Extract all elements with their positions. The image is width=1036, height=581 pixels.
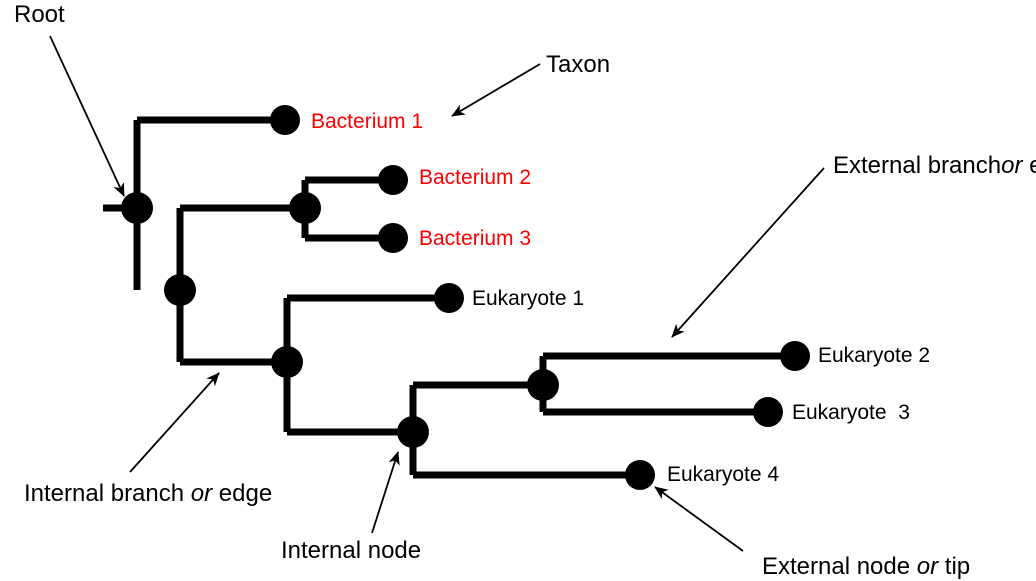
tip-node-eukaryote-4[interactable] xyxy=(625,460,655,490)
annotation-label-internal-node: Internal node xyxy=(281,538,421,565)
internal-node-bacteria-23[interactable] xyxy=(289,192,321,224)
annotation-label-external-branch: External branchor edge xyxy=(833,153,1033,180)
taxon-label-bacterium-2: Bacterium 2 xyxy=(419,166,531,190)
taxon-label-eukaryote-4: Eukaryote 4 xyxy=(667,463,779,487)
tip-node-bacterium-3[interactable] xyxy=(378,223,408,253)
tip-node-eukaryote-3[interactable] xyxy=(753,397,783,427)
phylogenetic-tree-figure: Bacterium 1 Bacterium 2 Bacterium 3 Euka… xyxy=(0,0,1036,581)
taxon-label-bacterium-3: Bacterium 3 xyxy=(419,227,531,251)
internal-node-b[interactable] xyxy=(164,274,196,306)
tip-node-bacterium-2[interactable] xyxy=(378,165,408,195)
tip-node-eukaryote-2[interactable] xyxy=(780,341,810,371)
taxon-label-eukaryote-3: Eukaryote 3 xyxy=(792,401,910,425)
annotation-label-taxon: Taxon xyxy=(546,52,610,79)
annotation-label-external-node: External node or tip xyxy=(762,554,970,581)
internal-node-root[interactable] xyxy=(121,192,153,224)
tip-node-eukaryote-1[interactable] xyxy=(434,283,464,313)
annotation-label-root: Root xyxy=(14,2,65,29)
taxon-label-eukaryote-1: Eukaryote 1 xyxy=(472,287,584,311)
internal-node-arrow-icon xyxy=(372,452,398,533)
taxon-arrow-icon xyxy=(452,64,540,116)
internal-branch-arrow-icon xyxy=(130,373,219,472)
annotation-label-internal-branch: Internal branch or edge xyxy=(24,481,272,508)
internal-node-e[interactable] xyxy=(527,369,559,401)
taxon-label-eukaryote-2: Eukaryote 2 xyxy=(818,344,930,368)
taxon-label-bacterium-1: Bacterium 1 xyxy=(311,110,423,134)
root-arrow-icon xyxy=(50,36,124,196)
external-node-arrow-icon xyxy=(655,487,743,551)
external-branch-arrow-icon xyxy=(672,168,824,337)
internal-node-c[interactable] xyxy=(271,346,303,378)
internal-node-d[interactable] xyxy=(397,416,429,448)
tip-node-bacterium-1[interactable] xyxy=(270,105,300,135)
